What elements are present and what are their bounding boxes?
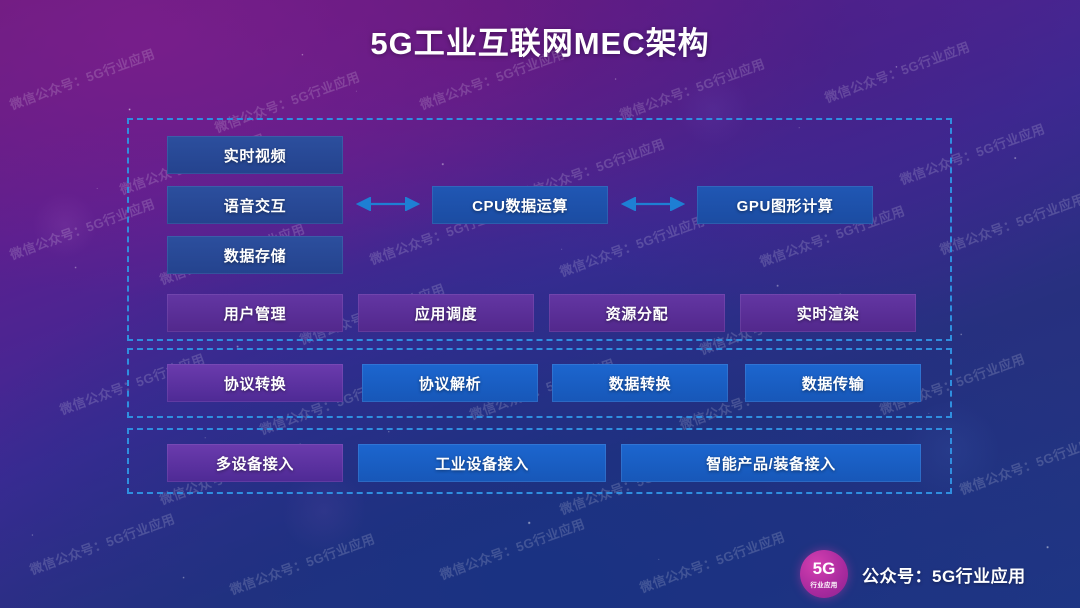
diagram-node-access-layer[interactable]: 多设备接入 xyxy=(167,444,343,482)
arrow-video-to-cpu xyxy=(351,197,425,216)
watermark-text: 微信公众号：5G行业应用 xyxy=(27,508,178,578)
diagram-node-label: 智能产品/装备接入 xyxy=(706,453,836,474)
diagram-node-label: 用户管理 xyxy=(224,303,286,324)
diagram-node-compute-layer[interactable]: GPU图形计算 xyxy=(697,186,873,224)
diagram-node-label: 应用调度 xyxy=(415,303,477,324)
arrow-cpu-to-gpu xyxy=(616,197,690,216)
watermark-text: 微信公众号：5G行业应用 xyxy=(637,526,788,596)
diagram-node-protocol-layer[interactable]: 协议解析 xyxy=(362,364,538,402)
watermark-text: 微信公众号：5G行业应用 xyxy=(617,53,768,123)
diagram-node-label: CPU数据运算 xyxy=(472,195,568,216)
diagram-node-protocol-layer[interactable]: 数据转换 xyxy=(552,364,728,402)
diagram-node-label: 实时视频 xyxy=(224,145,286,166)
diagram-node-access-layer[interactable]: 智能产品/装备接入 xyxy=(621,444,921,482)
diagram-node-compute-layer[interactable]: 应用调度 xyxy=(358,294,534,332)
watermark-text: 微信公众号：5G行业应用 xyxy=(937,188,1080,258)
diagram-node-label: 协议转换 xyxy=(224,373,286,394)
diagram-node-compute-layer[interactable]: 实时渲染 xyxy=(740,294,916,332)
diagram-node-compute-layer[interactable]: 数据存储 xyxy=(167,236,343,274)
diagram-node-label: 协议解析 xyxy=(419,373,481,394)
diagram-node-compute-layer[interactable]: 资源分配 xyxy=(549,294,725,332)
diagram-node-label: 工业设备接入 xyxy=(435,453,529,474)
diagram-node-compute-layer[interactable]: CPU数据运算 xyxy=(432,186,608,224)
diagram-node-label: GPU图形计算 xyxy=(737,195,834,216)
diagram-node-label: 数据传输 xyxy=(802,373,864,394)
diagram-node-compute-layer[interactable]: 实时视频 xyxy=(167,136,343,174)
diagram-node-protocol-layer[interactable]: 协议转换 xyxy=(167,364,343,402)
brand-logo: 5G 行业应用 xyxy=(800,550,848,598)
watermark-text: 微信公众号：5G行业应用 xyxy=(227,528,378,598)
diagram-node-label: 资源分配 xyxy=(606,303,668,324)
page-title: 5G工业互联网MEC架构 xyxy=(0,18,1080,63)
diagram-node-label: 实时渲染 xyxy=(797,303,859,324)
diagram-node-label: 数据转换 xyxy=(609,373,671,394)
diagram-node-compute-layer[interactable]: 语音交互 xyxy=(167,186,343,224)
brand-logo-main: 5G xyxy=(813,560,836,577)
diagram-node-label: 语音交互 xyxy=(224,195,286,216)
diagram-node-label: 数据存储 xyxy=(224,245,286,266)
diagram-node-protocol-layer[interactable]: 数据传输 xyxy=(745,364,921,402)
diagram-node-access-layer[interactable]: 工业设备接入 xyxy=(358,444,606,482)
diagram-node-compute-layer[interactable]: 用户管理 xyxy=(167,294,343,332)
watermark-text: 微信公众号：5G行业应用 xyxy=(437,513,588,583)
watermark-text: 微信公众号：5G行业应用 xyxy=(957,428,1080,498)
footer-account-text: 公众号：5G行业应用 xyxy=(862,562,1026,587)
diagram-node-label: 多设备接入 xyxy=(216,453,294,474)
brand-logo-sub: 行业应用 xyxy=(810,579,837,589)
